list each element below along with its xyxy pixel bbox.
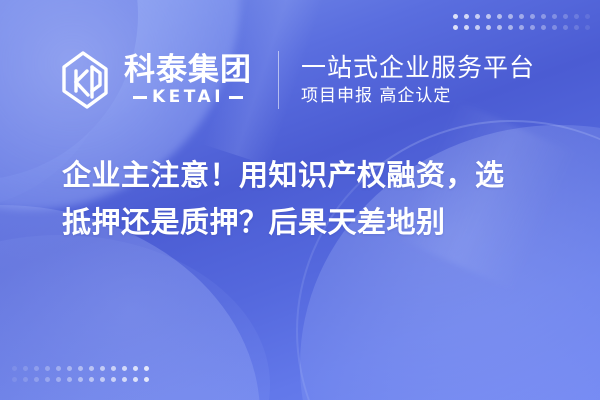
- dot-row: [12, 366, 149, 371]
- header-divider: [278, 51, 279, 109]
- decorative-dot: [100, 366, 105, 371]
- decorative-dot: [530, 14, 535, 19]
- decorative-dot: [144, 377, 149, 382]
- decorative-dot: [541, 25, 546, 30]
- decorative-dot: [23, 366, 28, 371]
- dot-row: [453, 14, 590, 19]
- dot-grid-bottom-left: [12, 366, 149, 382]
- decorative-dot: [475, 14, 480, 19]
- decorative-dot: [144, 366, 149, 371]
- decorative-dot: [67, 377, 72, 382]
- decorative-dot: [453, 25, 458, 30]
- slogan-block: 一站式企业服务平台 项目申报 高企认定: [301, 53, 535, 108]
- decorative-dot: [133, 377, 138, 382]
- decorative-dot: [89, 366, 94, 371]
- decorative-dot: [486, 14, 491, 19]
- decorative-dot: [34, 377, 39, 382]
- decorative-dot: [530, 25, 535, 30]
- decorative-dot: [497, 25, 502, 30]
- decorative-dot: [563, 14, 568, 19]
- decorative-dot: [56, 366, 61, 371]
- logo-wordmark: 科泰集团 KETAI: [124, 54, 252, 107]
- promo-banner: 科泰集团 KETAI 一站式企业服务平台 项目申报 高企认定 企业主注意！用知识…: [0, 0, 600, 400]
- decorative-dot: [111, 366, 116, 371]
- logo-dash-left-icon: [133, 96, 147, 99]
- decorative-dot: [464, 25, 469, 30]
- decorative-dot: [585, 14, 590, 19]
- decorative-dot: [56, 377, 61, 382]
- decorative-dot: [475, 25, 480, 30]
- decorative-dot: [464, 14, 469, 19]
- decorative-dot: [541, 14, 546, 19]
- decorative-dot: [111, 377, 116, 382]
- decorative-dot: [45, 377, 50, 382]
- decorative-dot: [574, 14, 579, 19]
- decorative-dot: [453, 14, 458, 19]
- headline-block: 企业主注意！用知识产权融资，选 抵押还是质押？后果天差地别: [62, 152, 562, 246]
- decorative-dot: [12, 377, 17, 382]
- banner-header: 科泰集团 KETAI 一站式企业服务平台 项目申报 高企认定: [56, 44, 535, 116]
- decorative-dot: [508, 25, 513, 30]
- decorative-dot: [122, 377, 127, 382]
- decorative-dot: [497, 14, 502, 19]
- decorative-dot: [12, 366, 17, 371]
- ketai-logo-icon: [56, 49, 114, 111]
- decorative-dot: [519, 25, 524, 30]
- decorative-dot: [508, 14, 513, 19]
- decorative-dot: [552, 25, 557, 30]
- decorative-dot: [45, 366, 50, 371]
- decorative-dot: [563, 25, 568, 30]
- decorative-dot: [574, 25, 579, 30]
- logo-company-name-en: KETAI: [152, 89, 224, 106]
- decorative-dot: [122, 366, 127, 371]
- dot-row: [453, 25, 590, 30]
- decorative-dot: [100, 377, 105, 382]
- dot-row: [12, 377, 149, 382]
- logo-dash-right-icon: [229, 96, 243, 99]
- decorative-dot: [519, 14, 524, 19]
- decorative-dot: [78, 377, 83, 382]
- logo-company-name-cn: 科泰集团: [124, 54, 252, 87]
- decorative-dot: [23, 377, 28, 382]
- decorative-dot: [67, 366, 72, 371]
- dot-grid-top-right: [453, 14, 590, 30]
- decorative-dot: [585, 25, 590, 30]
- logo-company-name-en-wrap: KETAI: [133, 89, 243, 106]
- headline-line-1: 企业主注意！用知识产权融资，选: [62, 152, 562, 199]
- slogan-sub-text: 项目申报 高企认定: [301, 85, 535, 107]
- decorative-dot: [486, 25, 491, 30]
- headline-line-2: 抵押还是质押？后果天差地别: [62, 199, 562, 246]
- decorative-dot: [78, 366, 83, 371]
- decorative-dot: [34, 366, 39, 371]
- decorative-dot: [552, 14, 557, 19]
- slogan-main-text: 一站式企业服务平台: [301, 53, 535, 83]
- decorative-dot: [89, 377, 94, 382]
- decorative-dot: [133, 366, 138, 371]
